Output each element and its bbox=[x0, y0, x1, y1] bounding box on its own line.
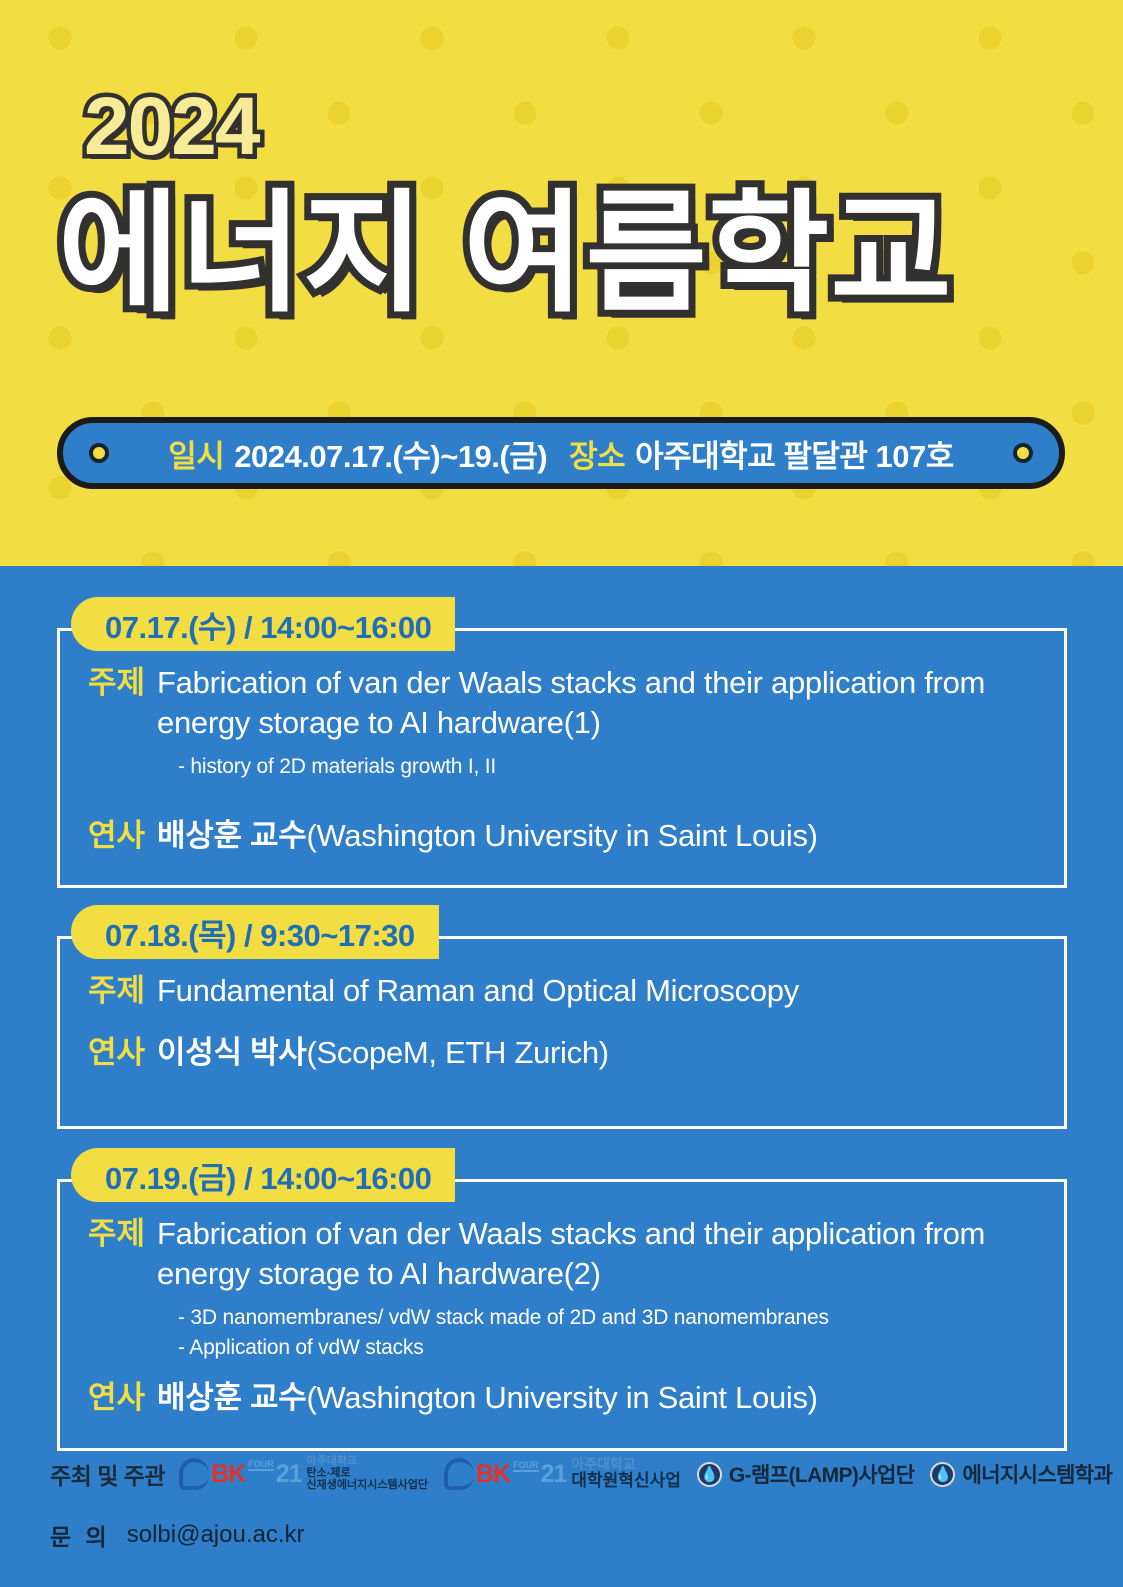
year-heading: 2024 bbox=[84, 86, 258, 168]
session-1-speaker: 배상훈 교수(Washington University in Saint Lo… bbox=[157, 816, 818, 856]
session-1-speaker-row: 연사 배상훈 교수(Washington University in Saint… bbox=[88, 816, 1036, 856]
event-info-text: 일시2024.07.17.(수)~19.(금)장소아주대학교 팔달관 107호 bbox=[109, 431, 1013, 476]
bk21-logo-1-text: 아주대학교 탄소-제로 신재생에너지시스템사업단 bbox=[307, 1456, 428, 1492]
speaker-label: 연사 bbox=[88, 1378, 145, 1418]
bk21-mark-21: 21 bbox=[276, 1460, 302, 1489]
session-2-speaker-affiliation: (ScopeM, ETH Zurich) bbox=[306, 1035, 608, 1070]
session-3-speaker-row: 연사 배상훈 교수(Washington University in Saint… bbox=[88, 1378, 1036, 1418]
bk21-logo-2-line2: 대학원혁신사업 bbox=[571, 1472, 680, 1490]
place-value: 아주대학교 팔달관 107호 bbox=[635, 439, 954, 474]
topic-label: 주제 bbox=[88, 663, 145, 703]
session-2-speaker-name: 이성식 박사 bbox=[157, 1035, 306, 1070]
bk21-mark-21: 21 bbox=[541, 1460, 567, 1489]
session-3-speaker-affiliation: (Washington University in Saint Louis) bbox=[306, 1380, 817, 1415]
contact-email[interactable]: solbi@ajou.ac.kr bbox=[127, 1521, 305, 1549]
dot-right-icon bbox=[1013, 443, 1033, 463]
session-1-speaker-name: 배상훈 교수 bbox=[157, 818, 306, 853]
sponsor-lamp-label: G-램프(LAMP)사업단 bbox=[729, 1459, 915, 1489]
session-1-bullet-0: - history of 2D materials growth I, II bbox=[178, 752, 1036, 781]
session-3-bullet-1: - Application of vdW stacks bbox=[178, 1333, 1036, 1362]
session-1-bullets: - history of 2D materials growth I, II bbox=[178, 752, 1036, 781]
poster-root: 2024 에너지 여름학교 일시2024.07.17.(수)~19.(금)장소아… bbox=[0, 0, 1123, 1587]
date-label: 일시 bbox=[168, 439, 224, 474]
dot-left-icon bbox=[89, 443, 109, 463]
session-1-speaker-affiliation: (Washington University in Saint Louis) bbox=[306, 818, 817, 853]
bk21-mark-four: FOUR bbox=[248, 1460, 274, 1471]
bk21-head-icon bbox=[179, 1458, 209, 1490]
session-2-speaker: 이성식 박사(ScopeM, ETH Zurich) bbox=[157, 1033, 609, 1073]
sponsor-energy-dept-label: 에너지시스템학과 bbox=[962, 1459, 1112, 1489]
bk21-mark-four: FOUR bbox=[513, 1461, 539, 1472]
bk21-head-icon bbox=[444, 1458, 474, 1490]
speaker-label: 연사 bbox=[88, 1033, 145, 1073]
session-2-topic: Fundamental of Raman and Optical Microsc… bbox=[157, 971, 799, 1011]
bk21-logo-1: BK FOUR 21 아주대학교 탄소-제로 신재생에너지시스템사업단 bbox=[179, 1456, 428, 1492]
event-info-banner: 일시2024.07.17.(수)~19.(금)장소아주대학교 팔달관 107호 bbox=[57, 417, 1065, 489]
bk21-mark-bk: BK bbox=[211, 1460, 245, 1489]
flame-seal-icon: 💧 bbox=[930, 1462, 955, 1487]
bk21-logo-2-text: 아주대학교 대학원혁신사업 bbox=[571, 1457, 680, 1490]
session-3-topic: Fabrication of van der Waals stacks and … bbox=[157, 1214, 1036, 1293]
bk21-logo-2: BK FOUR 21 아주대학교 대학원혁신사업 bbox=[444, 1457, 681, 1490]
poster-footer: 주최 및 주관 BK FOUR 21 아주대학교 탄소-제로 신재생에너지시스템… bbox=[50, 1448, 1090, 1552]
session-1-topic-row: 주제 Fabrication of van der Waals stacks a… bbox=[88, 663, 1036, 742]
sponsor-energy-dept: 💧 에너지시스템학과 bbox=[930, 1459, 1112, 1489]
session-1-date-tag: 07.17.(수) / 14:00~16:00 bbox=[71, 597, 455, 651]
bk21-mark-bk: BK bbox=[476, 1460, 510, 1489]
session-3-body: 주제 Fabrication of van der Waals stacks a… bbox=[57, 1179, 1067, 1451]
place-label: 장소 bbox=[569, 439, 625, 474]
session-2-speaker-row: 연사 이성식 박사(ScopeM, ETH Zurich) bbox=[88, 1033, 1036, 1073]
session-3-speaker-name: 배상훈 교수 bbox=[157, 1380, 306, 1415]
contact-label: 문 의 bbox=[50, 1518, 111, 1552]
session-3-date-tag: 07.19.(금) / 14:00~16:00 bbox=[71, 1148, 455, 1202]
bk21-logo-1-line3: 신재생에너지시스템사업단 bbox=[307, 1480, 428, 1492]
session-1-topic: Fabrication of van der Waals stacks and … bbox=[157, 663, 1036, 742]
contact-row: 문 의 solbi@ajou.ac.kr bbox=[50, 1518, 1090, 1552]
page-title: 에너지 여름학교 bbox=[58, 176, 1068, 332]
date-value: 2024.07.17.(수)~19.(금) bbox=[234, 439, 547, 474]
session-1-body: 주제 Fabrication of van der Waals stacks a… bbox=[57, 628, 1067, 888]
session-3-topic-row: 주제 Fabrication of van der Waals stacks a… bbox=[88, 1214, 1036, 1293]
flame-seal-icon: 💧 bbox=[697, 1462, 722, 1487]
session-3-bullet-0: - 3D nanomembranes/ vdW stack made of 2D… bbox=[178, 1303, 1036, 1332]
host-organizers-row: 주최 및 주관 BK FOUR 21 아주대학교 탄소-제로 신재생에너지시스템… bbox=[50, 1448, 1090, 1500]
session-2-date-tag: 07.18.(목) / 9:30~17:30 bbox=[71, 905, 439, 959]
topic-label: 주제 bbox=[88, 971, 145, 1011]
topic-label: 주제 bbox=[88, 1214, 145, 1254]
sponsor-lamp: 💧 G-램프(LAMP)사업단 bbox=[697, 1459, 915, 1489]
session-2-topic-row: 주제 Fundamental of Raman and Optical Micr… bbox=[88, 971, 1036, 1011]
session-3-speaker: 배상훈 교수(Washington University in Saint Lo… bbox=[157, 1378, 818, 1418]
speaker-label: 연사 bbox=[88, 816, 145, 856]
session-3-bullets: - 3D nanomembranes/ vdW stack made of 2D… bbox=[178, 1303, 1036, 1362]
host-label: 주최 및 주관 bbox=[50, 1457, 165, 1491]
session-2-body: 주제 Fundamental of Raman and Optical Micr… bbox=[57, 936, 1067, 1129]
